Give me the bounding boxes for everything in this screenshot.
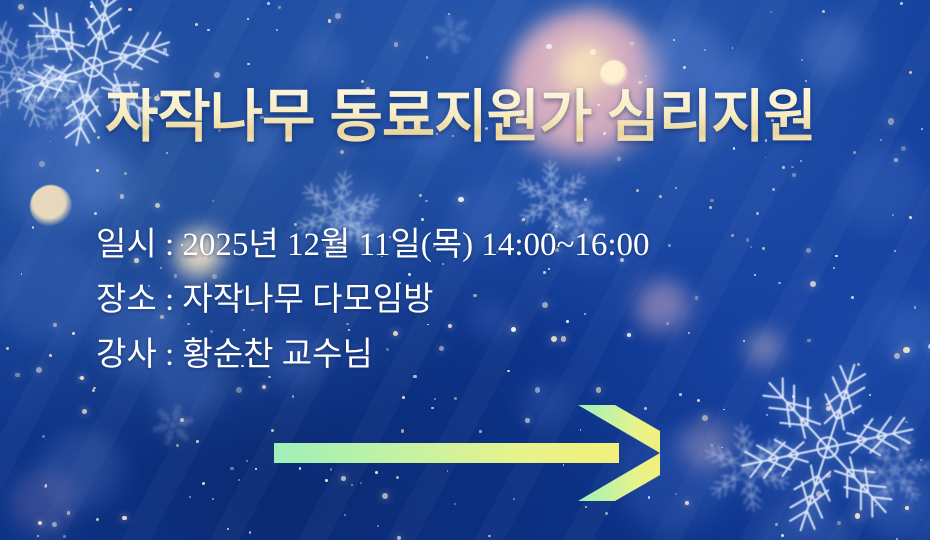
event-place-row: 장소 : 자작나무 다모임방 (96, 273, 650, 328)
event-details: 일시 : 2025년 12월 11일(목) 14:00~16:00 장소 : 자… (96, 218, 650, 383)
right-arrow-icon (262, 398, 672, 506)
event-date-row: 일시 : 2025년 12월 11일(목) 14:00~16:00 (96, 218, 650, 273)
page-title: 자작나무 동료지원가 심리지원 (105, 88, 816, 146)
winter-event-poster: 자작나무 동료지원가 심리지원 일시 : 2025년 12월 11일(목) 14… (0, 0, 930, 540)
event-lecturer-row: 강사 : 황순찬 교수님 (96, 328, 650, 383)
